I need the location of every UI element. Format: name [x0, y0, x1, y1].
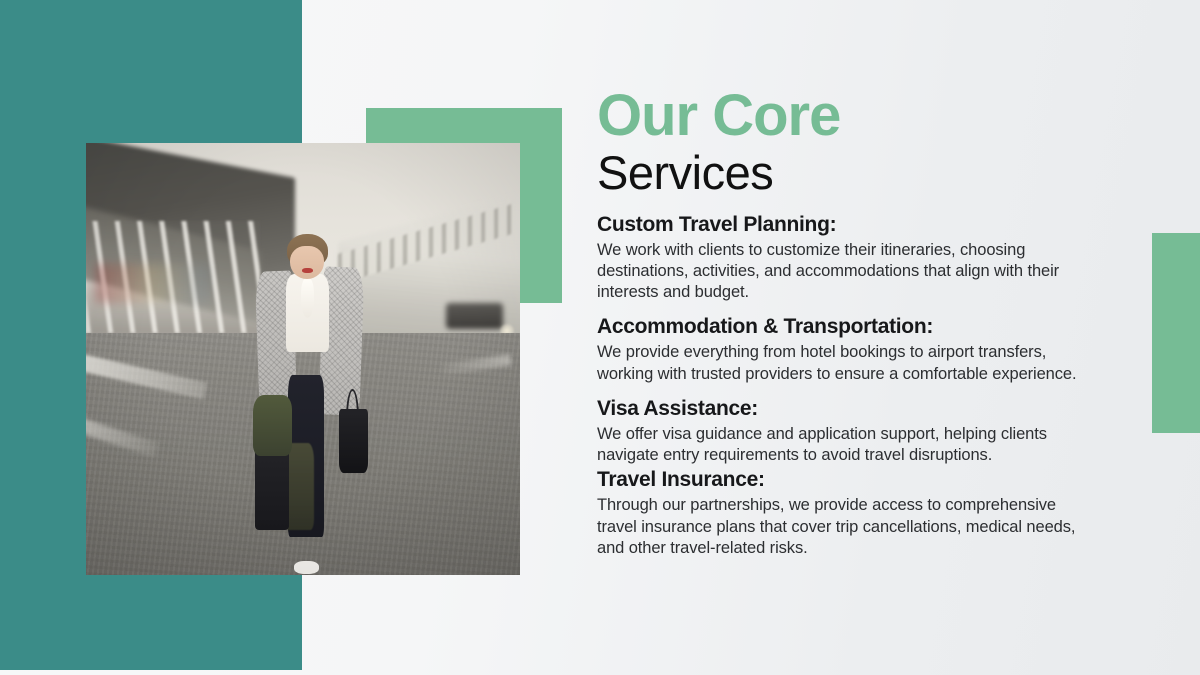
service-description: We work with clients to customize their … — [597, 240, 1087, 303]
service-description: Through our partnerships, we provide acc… — [597, 495, 1087, 558]
slide-canvas: Our Core Services Custom Travel Planning… — [0, 0, 1200, 675]
service-description: We provide everything from hotel booking… — [597, 342, 1087, 384]
service-title: Accommodation & Transportation: — [597, 313, 1087, 340]
traveler-photo — [86, 143, 520, 575]
service-item-accommodation-transportation: Accommodation & Transportation: We provi… — [597, 313, 1087, 385]
page-title-accent: Our Core — [597, 86, 1087, 147]
content-column: Our Core Services Custom Travel Planning… — [597, 86, 1087, 559]
service-description: We offer visa guidance and application s… — [597, 424, 1087, 466]
service-title: Visa Assistance: — [597, 395, 1087, 422]
page-title-main: Services — [597, 147, 1087, 200]
service-item-travel-insurance: Travel Insurance: Through our partnershi… — [597, 466, 1087, 559]
photo-vignette — [86, 143, 520, 575]
green-accent-bar-right — [1152, 233, 1200, 433]
service-title: Travel Insurance: — [597, 466, 1087, 493]
service-item-custom-travel-planning: Custom Travel Planning: We work with cli… — [597, 211, 1087, 304]
service-title: Custom Travel Planning: — [597, 211, 1087, 238]
service-item-visa-assistance: Visa Assistance: We offer visa guidance … — [597, 395, 1087, 467]
